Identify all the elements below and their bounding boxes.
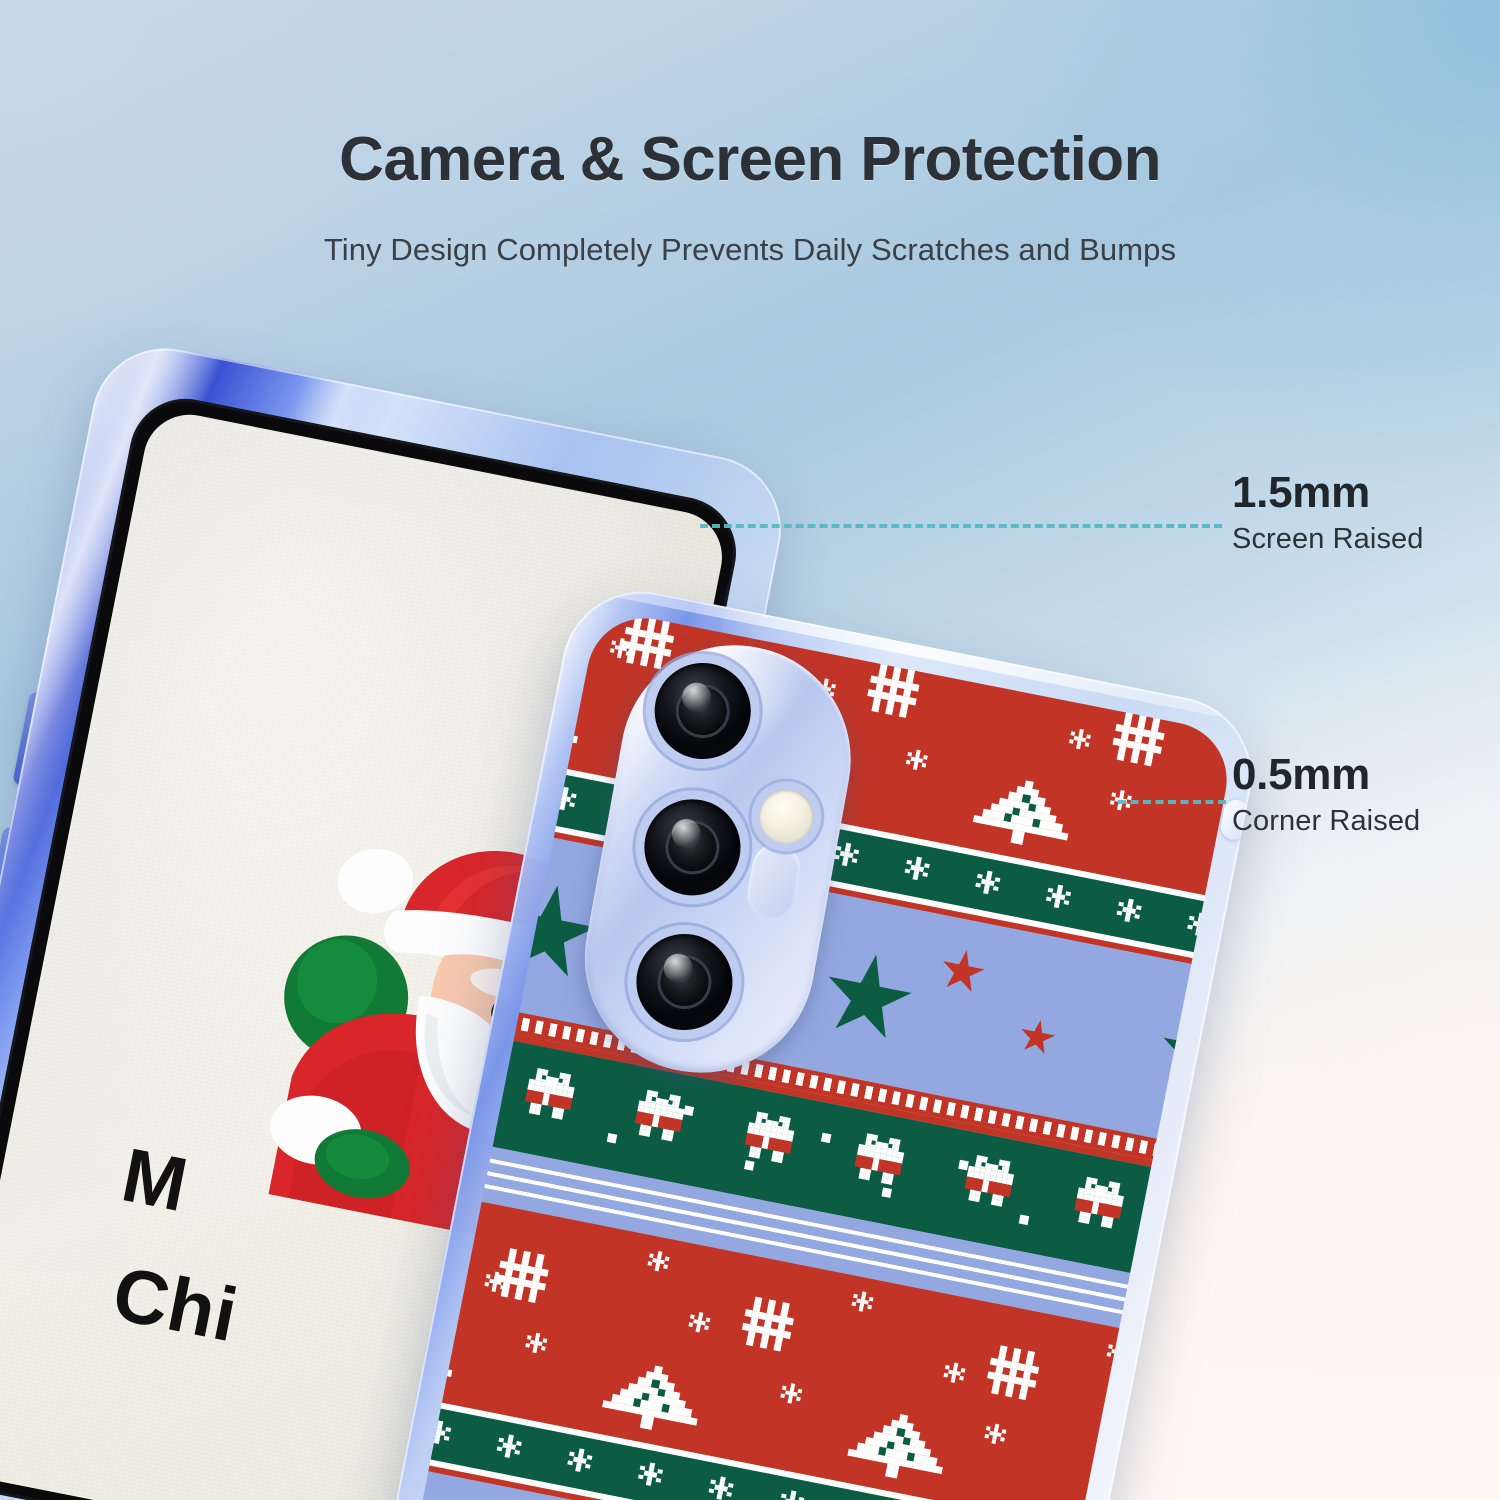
pixel-snowflake-small [851, 1290, 875, 1314]
pixel-polar-bear [962, 1154, 1022, 1209]
pixel-dot [1096, 1187, 1107, 1198]
pixel-snowflake-small [1186, 911, 1213, 938]
star-red [1016, 1016, 1058, 1058]
pixel-snowflake-small [525, 1331, 549, 1355]
pixel-snowflake-small [904, 855, 931, 882]
product-image-canvas: Camera & Screen Protection Tiny Design C… [0, 0, 1500, 1500]
pixel-dot [607, 1133, 618, 1144]
callout-screen-value: 1.5mm [1232, 470, 1424, 516]
pixel-dot [744, 1160, 755, 1171]
pixel-snowflake-small [425, 1419, 452, 1446]
pixel-snowflake-large [1110, 710, 1168, 768]
pixel-snowflake-large [984, 1344, 1042, 1402]
callout-screen-raised: 1.5mm Screen Raised [1232, 470, 1424, 557]
pixel-snowflake-small [637, 1461, 664, 1488]
page-subtitle: Tiny Design Completely Prevents Daily Sc… [0, 232, 1500, 268]
pixel-dot [881, 1187, 892, 1198]
pixel-dot [958, 1160, 969, 1171]
pixel-snowflake-small [778, 1489, 805, 1500]
pixel-snowflake-large [739, 1295, 797, 1353]
pixel-snowflake-small [1116, 897, 1143, 924]
pixel-snowflake-small [1068, 727, 1092, 751]
leader-line-screen-raised [700, 524, 1222, 528]
pixel-snowflake-small [484, 1270, 508, 1294]
pixel-dot [546, 1078, 557, 1089]
pixel-snowflake-small [943, 1361, 967, 1385]
pixel-snowflake-small [708, 1475, 735, 1500]
pixel-polar-bear [743, 1110, 803, 1165]
pixel-snowflake-small [974, 869, 1001, 896]
pixel-snowflake-small [496, 1433, 523, 1460]
pixel-tree [592, 1355, 713, 1441]
star-red [937, 946, 989, 998]
pixel-tree [838, 1404, 959, 1490]
pixel-snowflake-small [551, 785, 578, 812]
callout-corner-value: 0.5mm [1232, 752, 1420, 798]
pixel-dot [1019, 1215, 1030, 1226]
page-title: Camera & Screen Protection [0, 124, 1500, 195]
pixel-snowflake-small [609, 636, 633, 660]
pixel-polar-bear [523, 1067, 583, 1122]
pixel-snowflake-small [688, 1311, 712, 1335]
pixel-snowflake-small [905, 748, 929, 772]
pixel-snowflake-small [1106, 1340, 1130, 1364]
pixel-tree [963, 770, 1084, 856]
pixel-snowflake-large [865, 662, 923, 720]
pixel-snowflake-small [566, 1447, 593, 1474]
pixel-polar-bear [852, 1132, 912, 1187]
callout-screen-label: Screen Raised [1232, 522, 1424, 557]
pixel-polar-bear [1072, 1176, 1132, 1231]
pixel-dot [821, 1133, 832, 1144]
star-green [816, 946, 919, 1049]
pixel-snowflake-small [780, 1382, 804, 1406]
pixel-polar-bear [633, 1089, 693, 1144]
pixel-dot [684, 1105, 695, 1116]
pixel-snowflake-small [984, 1422, 1008, 1446]
callout-corner-raised: 0.5mm Corner Raised [1232, 752, 1420, 839]
pixel-snowflake-small [647, 1249, 671, 1273]
leader-line-corner-raised [1118, 800, 1226, 804]
pixel-snowflake-small [1045, 883, 1072, 910]
callout-corner-label: Corner Raised [1232, 804, 1420, 839]
